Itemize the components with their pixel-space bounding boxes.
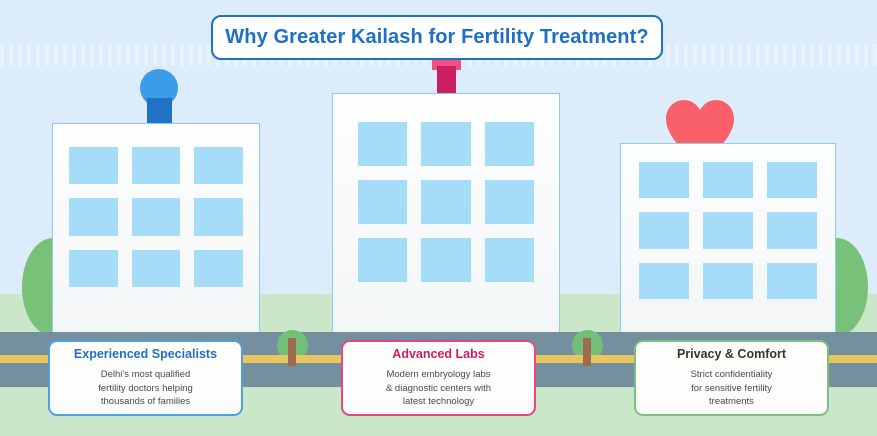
window (132, 198, 181, 235)
window (421, 180, 470, 224)
card-body: Strict confidentiality for sensitive fer… (691, 368, 773, 409)
card-body: Modern embryology labs & diagnostic cent… (386, 368, 491, 409)
window (358, 122, 407, 166)
road-tree-trunk-right (583, 338, 591, 366)
card-title: Experienced Specialists (74, 347, 217, 362)
window-grid (69, 147, 243, 287)
card-experienced-specialists[interactable]: Experienced Specialists Delhi's most qua… (48, 340, 243, 416)
card-line: treatments (691, 395, 773, 409)
building-advanced-labs (332, 93, 560, 334)
window (703, 162, 753, 198)
window (358, 180, 407, 224)
building-experienced-specialists (52, 123, 260, 334)
window (767, 162, 817, 198)
headline-banner: Why Greater Kailash for Fertility Treatm… (211, 15, 663, 60)
card-privacy-comfort[interactable]: Privacy & Comfort Strict confidentiality… (634, 340, 829, 416)
card-line: fertility doctors helping (98, 382, 193, 396)
card-line: Strict confidentiality (691, 368, 773, 382)
card-advanced-labs[interactable]: Advanced Labs Modern embryology labs & d… (341, 340, 536, 416)
window (69, 147, 118, 184)
card-line: for sensitive fertility (691, 382, 773, 396)
window-grid (639, 162, 817, 299)
window (767, 263, 817, 299)
window-grid (358, 122, 534, 282)
window (132, 147, 181, 184)
window (485, 238, 534, 282)
window (421, 238, 470, 282)
infographic-canvas: Why Greater Kailash for Fertility Treatm… (0, 0, 877, 436)
window (358, 238, 407, 282)
window (194, 147, 243, 184)
card-line: & diagnostic centers with (386, 382, 491, 396)
flask-body-icon (437, 66, 456, 96)
window (767, 212, 817, 248)
window (194, 250, 243, 287)
page-title: Why Greater Kailash for Fertility Treatm… (225, 26, 648, 49)
card-title: Privacy & Comfort (677, 347, 786, 362)
window (485, 180, 534, 224)
window (194, 198, 243, 235)
building-privacy-comfort (620, 143, 836, 334)
card-title: Advanced Labs (392, 347, 484, 362)
card-line: Delhi's most qualified (98, 368, 193, 382)
window (485, 122, 534, 166)
card-line: Modern embryology labs (386, 368, 491, 382)
road-tree-trunk-left (288, 338, 296, 366)
window (639, 212, 689, 248)
card-body: Delhi's most qualified fertility doctors… (98, 368, 193, 409)
window (703, 263, 753, 299)
window (69, 250, 118, 287)
window (132, 250, 181, 287)
window (703, 212, 753, 248)
window (69, 198, 118, 235)
window (639, 162, 689, 198)
window (639, 263, 689, 299)
card-line: thousands of families (98, 395, 193, 409)
card-line: latest technology (386, 395, 491, 409)
person-body-icon (147, 98, 172, 125)
window (421, 122, 470, 166)
